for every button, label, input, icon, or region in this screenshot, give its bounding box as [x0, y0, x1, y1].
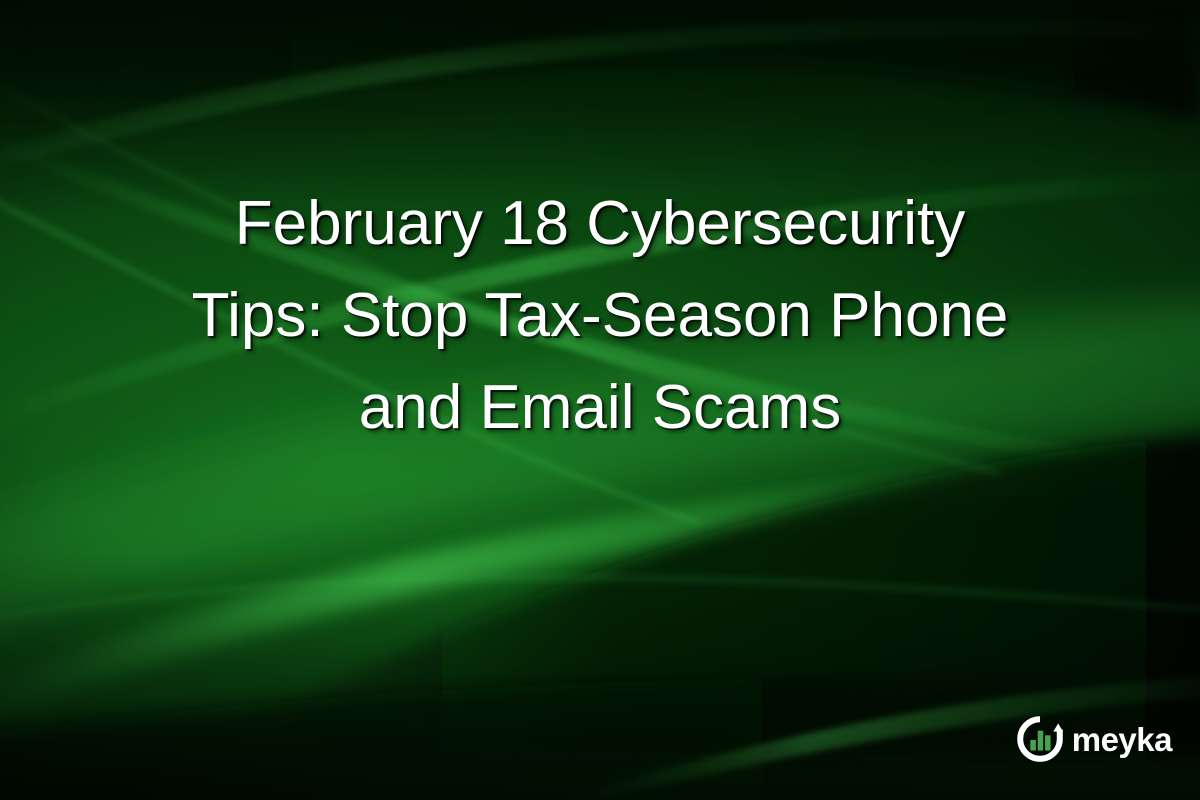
- blog-banner: February 18 Cybersecurity Tips: Stop Tax…: [0, 0, 1200, 800]
- logo-bar-3: [1045, 735, 1051, 750]
- title-line-2: Tips: Stop Tax-Season Phone: [40, 270, 1160, 362]
- meyka-bar-chart-ring-icon: [1017, 716, 1063, 762]
- brand-logo[interactable]: meyka: [1017, 716, 1172, 762]
- page-title: February 18 Cybersecurity Tips: Stop Tax…: [0, 178, 1200, 454]
- brand-wordmark: meyka: [1072, 723, 1172, 756]
- logo-bar-2: [1037, 731, 1043, 751]
- title-line-1: February 18 Cybersecurity: [40, 178, 1160, 270]
- title-line-3: and Email Scams: [40, 362, 1160, 454]
- logo-bar-1: [1030, 740, 1036, 751]
